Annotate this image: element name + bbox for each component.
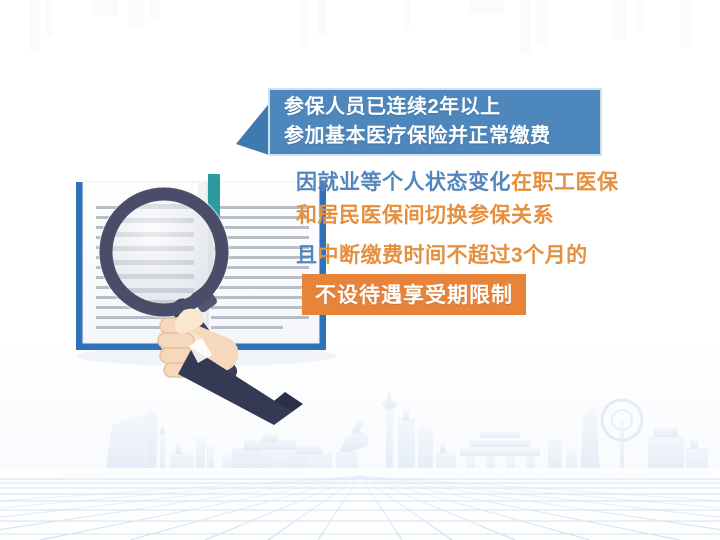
slide-canvas: 参保人员已连续2年以上 参加基本医疗保险并正常缴费 因就业等个人状态变化在职工医… (0, 0, 720, 540)
policy-line-2-seg-1: 和居民医保间切换参保关系 (296, 204, 554, 227)
no-waiting-period-tag: 不设待遇享受期限制 (302, 274, 526, 315)
policy-paragraph: 因就业等个人状态变化在职工医保 和居民医保间切换参保关系 且中断缴费时间不超过3… (296, 166, 716, 272)
condition-banner: 参保人员已连续2年以上 参加基本医疗保险并正常缴费 (268, 88, 602, 156)
policy-line-1: 因就业等个人状态变化在职工医保 (296, 166, 716, 199)
policy-line-3-seg-2: 中断缴费时间不超过3个月的 (318, 244, 588, 267)
top-reflected-skyline (30, 0, 692, 54)
policy-line-3: 且中断缴费时间不超过3个月的 (296, 239, 716, 272)
policy-line-1-seg-1: 因就业等个人状态变化 (296, 171, 511, 194)
policy-line-2: 和居民医保间切换参保关系 (296, 199, 716, 232)
no-waiting-period-tag-label: 不设待遇享受期限制 (315, 284, 513, 307)
banner-line-1: 参保人员已连续2年以上 (284, 93, 600, 122)
policy-line-3-seg-1: 且 (296, 244, 318, 267)
banner-tail (236, 100, 272, 160)
perspective-grid (0, 468, 720, 540)
banner-line-2: 参加基本医疗保险并正常缴费 (284, 122, 600, 151)
policy-line-1-seg-2: 在职工医保 (511, 171, 619, 194)
